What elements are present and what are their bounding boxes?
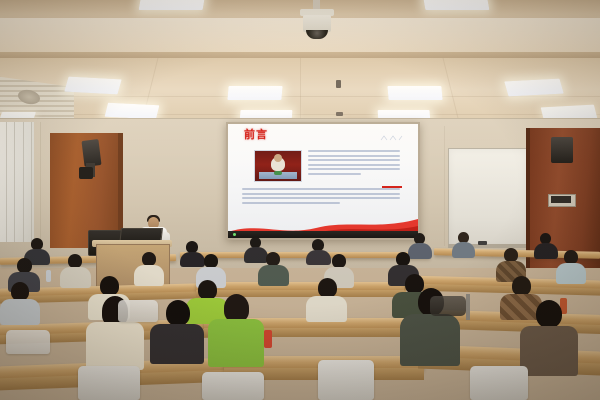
- blind-slat: [31, 122, 32, 242]
- ceiling-light-panel: [227, 86, 282, 100]
- wall-seam: [444, 126, 445, 246]
- ceiling-light-panel: [105, 103, 160, 120]
- desk-leg: [466, 294, 470, 320]
- speaker-icon: [79, 167, 93, 179]
- blind-slat: [6, 122, 7, 242]
- chair[interactable]: [118, 300, 158, 322]
- slide-title: 前言: [244, 130, 268, 141]
- photo-head: [274, 154, 282, 162]
- ceiling-sensor: [336, 112, 343, 116]
- ceiling-sensor: [336, 80, 341, 88]
- desk-front-panel: [196, 290, 406, 297]
- ceiling-light-panel: [423, 0, 490, 10]
- projection-screen: 前言: [226, 122, 420, 240]
- water-bottle: [264, 330, 272, 348]
- slide-paragraph-2: [242, 188, 400, 206]
- chair[interactable]: [318, 360, 374, 400]
- wall-ceiling-seam: [0, 118, 600, 119]
- blind-slat: [14, 122, 15, 242]
- power-led-icon: [233, 233, 236, 236]
- chair[interactable]: [6, 330, 50, 354]
- blind-slat: [23, 122, 24, 242]
- ceiling-light-panel: [139, 0, 206, 10]
- lecture-hall-photo: 前言: [0, 0, 600, 400]
- slide-paragraph-1: [308, 150, 400, 177]
- ceiling-light-panel: [387, 86, 442, 100]
- chair[interactable]: [202, 372, 264, 400]
- chair[interactable]: [78, 366, 140, 400]
- ceiling-light-panel: [504, 79, 563, 97]
- slide-photo: [254, 150, 302, 182]
- wall-seam: [40, 122, 41, 242]
- photo-nameplate: [274, 171, 282, 175]
- slide-decoration-icon: [380, 133, 404, 142]
- ceiling-light-panel: [64, 77, 121, 95]
- marker-icon: [478, 241, 487, 245]
- speaker-icon: [551, 137, 573, 163]
- slide-surface: 前言: [228, 124, 418, 238]
- ceiling-tile-line: [300, 58, 301, 118]
- chair[interactable]: [430, 296, 466, 316]
- water-bottle: [46, 270, 51, 282]
- chair[interactable]: [470, 366, 528, 400]
- ceiling-soffit-band: [0, 18, 600, 52]
- wall-control-plate-face: [551, 196, 571, 203]
- desk-row: [180, 252, 430, 258]
